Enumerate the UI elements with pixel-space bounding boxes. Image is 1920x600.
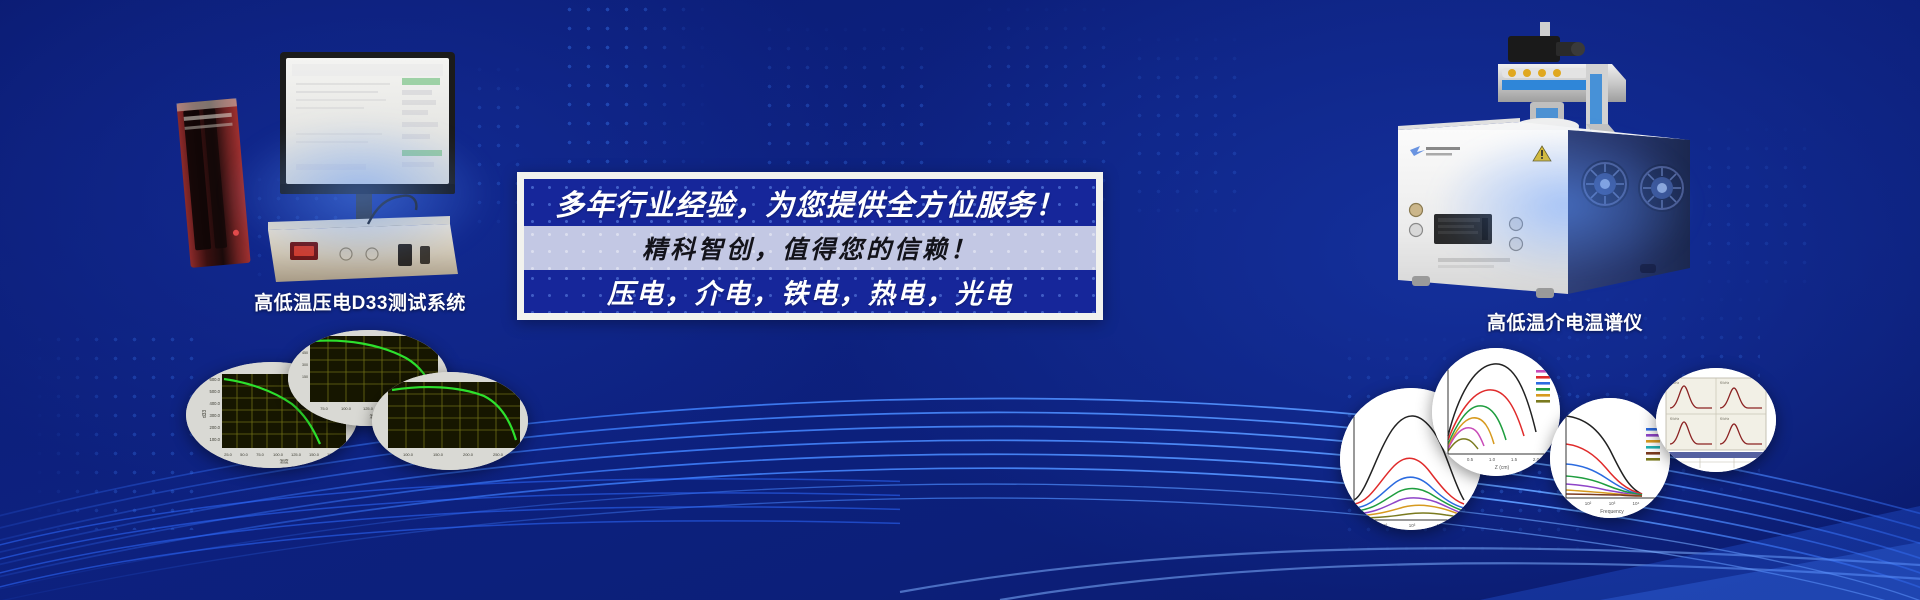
promotional-banner: 高低温压电D33测试系统 — [0, 0, 1920, 600]
svg-text:100.0: 100.0 — [273, 452, 284, 457]
svg-text:75.0: 75.0 — [256, 452, 265, 457]
svg-text:50.0: 50.0 — [240, 452, 249, 457]
svg-text:150.0: 150.0 — [433, 452, 444, 457]
product-right: 高低温介电温谱仪 — [1390, 18, 1740, 335]
svg-text:温度: 温度 — [280, 458, 289, 465]
svg-text:10³: 10³ — [1409, 523, 1416, 528]
svg-text:450: 450 — [302, 351, 308, 355]
svg-text:100.0: 100.0 — [403, 452, 414, 457]
svg-text:400.0: 400.0 — [210, 401, 221, 406]
svg-text:10³: 10³ — [1609, 501, 1616, 506]
chart-bubble-resonance-panels-4: f0 kHzf0 kHz f0 kHzf0 kHz — [1656, 368, 1776, 472]
svg-text:100.0: 100.0 — [210, 437, 221, 442]
svg-text:500.0: 500.0 — [210, 389, 221, 394]
svg-text:d33: d33 — [202, 410, 208, 419]
svg-text:10²: 10² — [1585, 501, 1592, 506]
svg-text:150: 150 — [302, 375, 308, 379]
svg-text:Z (cm): Z (cm) — [1495, 465, 1510, 471]
svg-text:f0 kHz: f0 kHz — [1720, 417, 1729, 421]
dot-pattern-texture — [1130, 30, 1250, 230]
svg-text:125.0: 125.0 — [363, 406, 374, 411]
svg-text:Frequency: Frequency — [1600, 509, 1624, 515]
headline-keywords: 压电，介电，铁电，热电，光电 — [524, 270, 1096, 313]
svg-text:0.5: 0.5 — [1467, 457, 1474, 462]
headline-secondary: 精科智创，值得您的信赖！ — [524, 226, 1096, 270]
headline-primary-text: 多年行业经验，为您提供全方位服务！ — [555, 182, 1065, 224]
product-left: 高低温压电D33测试系统 — [150, 38, 570, 315]
svg-text:1.5: 1.5 — [1511, 457, 1518, 462]
svg-text:200.0: 200.0 — [210, 425, 221, 430]
headline-primary: 多年行业经验，为您提供全方位服务！ — [524, 179, 1096, 226]
svg-text:125.0: 125.0 — [291, 452, 302, 457]
chart-bubble-permittivity-2: 0.51.0 1.52.0 Z (cm) — [1432, 348, 1560, 476]
svg-text:300: 300 — [302, 363, 308, 367]
svg-text:150.0: 150.0 — [309, 452, 320, 457]
svg-text:25.0: 25.0 — [224, 452, 233, 457]
svg-text:10⁴: 10⁴ — [1633, 501, 1640, 506]
svg-text:1.0: 1.0 — [1489, 457, 1496, 462]
svg-text:100.0: 100.0 — [341, 406, 352, 411]
svg-text:250.0: 250.0 — [493, 452, 504, 457]
headline-keywords-text: 压电，介电，铁电，热电，光电 — [607, 272, 1013, 311]
chart-bubble-d33-3: 100.0150.0 200.0250.0 温度 — [372, 372, 528, 470]
svg-text:600.0: 600.0 — [210, 377, 221, 382]
svg-text:75.0: 75.0 — [320, 406, 329, 411]
svg-text:200.0: 200.0 — [463, 452, 474, 457]
message-panel: 多年行业经验，为您提供全方位服务！ 精科智创，值得您的信赖！ 压电，介电，铁电，… — [517, 172, 1103, 320]
headline-secondary-text: 精科智创，值得您的信赖！ — [642, 230, 978, 266]
svg-text:300.0: 300.0 — [210, 413, 221, 418]
svg-text:f0 kHz: f0 kHz — [1670, 417, 1679, 421]
svg-text:f0 kHz: f0 kHz — [1720, 381, 1729, 385]
chart-bubble-loss-3: 10²10³10⁴ Frequency — [1550, 398, 1670, 518]
